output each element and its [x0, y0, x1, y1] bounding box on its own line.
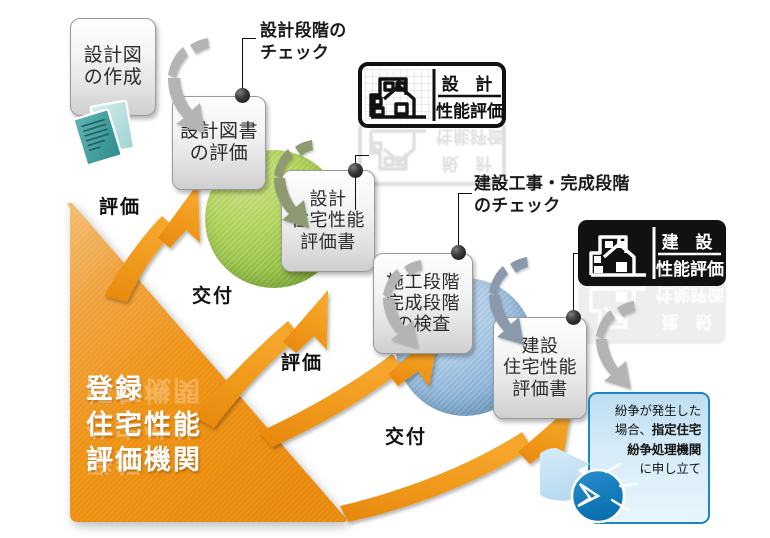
leader-tick-construction-badge	[573, 253, 587, 254]
callout-construction-completion-check: 建設工事・完成段階 のチェック	[474, 173, 630, 217]
box-line: の検査	[386, 314, 460, 335]
svg-text:設 計: 設 計	[442, 154, 499, 174]
box-construction-housing-performance-report[interactable]: 建設 住宅性能 評価書	[493, 317, 587, 419]
box-line: 設計図	[84, 45, 143, 67]
svg-text:性能評価: 性能評価	[436, 101, 504, 121]
arrow-label-issuance-1: 交付	[192, 281, 234, 308]
svg-text:性能評価: 性能評価	[656, 285, 724, 305]
svg-text:設 計: 設 計	[442, 74, 499, 94]
dispute-line-2-bold: 指定住宅	[652, 423, 701, 437]
leader-line-construction-badge	[573, 253, 574, 315]
construction-performance-badge: 建 設 性能評価	[578, 220, 726, 286]
leader-tick-design-stage	[242, 38, 256, 39]
arrow-label-evaluation-2: 評価	[281, 348, 323, 375]
box-line: 設計図書	[180, 121, 258, 143]
connector-dot-design-report	[348, 163, 363, 178]
svg-text:性能評価: 性能評価	[656, 259, 724, 279]
box-construction-completion-inspection[interactable]: 施工段階 完成段階 の検査	[373, 253, 473, 354]
connector-dot-construction-report	[566, 310, 581, 325]
diagram-canvas: 登録 住宅性能 評価機関 登録 住宅性能 評価機関	[0, 0, 770, 538]
arrow-label-issuance-2: 交付	[385, 422, 427, 449]
leader-line-design-stage	[242, 38, 243, 95]
box-line: 完成段階	[386, 293, 460, 314]
box-line: 住宅性能	[291, 210, 365, 231]
box-line: 設計	[291, 189, 365, 210]
box-design-housing-performance-report[interactable]: 設計 住宅性能 評価書	[281, 170, 375, 272]
svg-text:建 設: 建 設	[662, 232, 719, 252]
dispute-collision-icon	[540, 440, 648, 532]
connector-dot-design-stage	[235, 88, 250, 103]
box-line: 施工段階	[386, 272, 460, 293]
leader-tick-design-badge	[355, 155, 369, 156]
box-line: 評価書	[291, 232, 365, 253]
dispute-line-2-plain: 場合、	[615, 423, 652, 437]
svg-text:建 設: 建 設	[662, 312, 719, 332]
registered-body-label: 登録 住宅性能 評価機関	[86, 372, 202, 479]
box-line: 建設	[503, 336, 577, 357]
box-line: 住宅性能	[503, 357, 577, 378]
dispute-line-2: 場合、指定住宅	[597, 421, 701, 440]
arrow-label-evaluation-1: 評価	[99, 192, 141, 219]
connector-dot-construction-stage	[451, 245, 466, 260]
box-design-document-evaluation[interactable]: 設計図書 の評価	[172, 96, 266, 190]
leader-tick-construction-stage	[458, 193, 472, 194]
gray-arrow-5	[596, 301, 635, 389]
blueprint-documents-icon	[70, 98, 148, 176]
svg-text:性能評価: 性能評価	[436, 127, 504, 147]
box-line: の評価	[180, 143, 258, 165]
box-line: の作成	[84, 67, 143, 89]
leader-line-construction-stage	[458, 193, 459, 252]
design-performance-badge: 設 計 性能評価	[358, 62, 506, 128]
dispute-line-1: 紛争が発生した	[597, 402, 701, 421]
box-line: 評価書	[503, 379, 577, 400]
callout-design-stage-check: 設計段階の チェック	[260, 20, 347, 64]
construction-performance-badge-reflection: 建 設 性能評価	[578, 278, 726, 344]
